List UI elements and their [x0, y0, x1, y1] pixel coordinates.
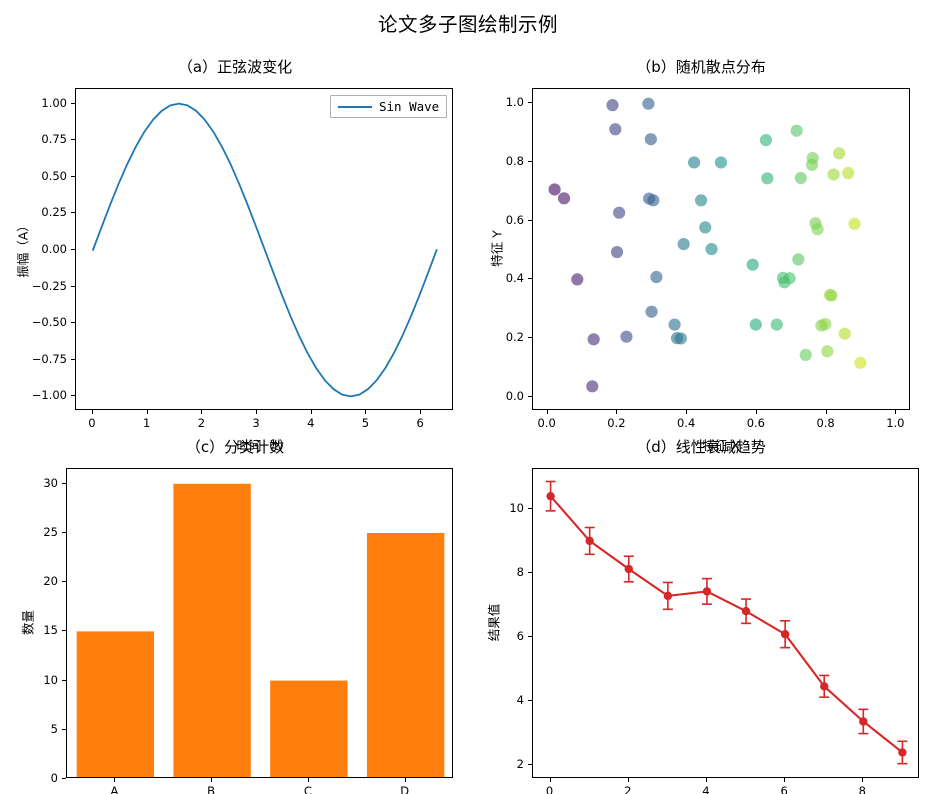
data-point-marker [664, 592, 672, 600]
scatter-point [609, 123, 621, 135]
y-tickmark [62, 778, 66, 779]
x-tick-label: 0.0 [537, 416, 555, 430]
figure-suptitle: 论文多子图绘制示例 [0, 8, 936, 37]
y-tick-label: 0 [0, 771, 58, 785]
scatter-point [833, 147, 845, 159]
scatter-point [800, 349, 812, 361]
bar [173, 484, 250, 778]
data-point-marker [703, 587, 711, 595]
y-tickmark [528, 396, 532, 397]
bar [270, 681, 347, 778]
x-tick-label: 8 [859, 784, 866, 794]
data-point-marker [742, 607, 750, 615]
subplot-d-axes [532, 468, 919, 778]
subplot-b-axes [532, 88, 910, 410]
scatter-point [549, 183, 561, 195]
scatter-point [606, 99, 618, 111]
y-tick-label: 0.00 [0, 242, 67, 256]
x-tickmark [628, 778, 629, 782]
y-tick-label: −0.50 [0, 315, 67, 329]
y-tick-label: 15 [0, 623, 58, 637]
subplot-a-axes [75, 88, 453, 410]
y-tickmark [528, 572, 532, 573]
y-tickmark [62, 729, 66, 730]
y-tickmark [62, 630, 66, 631]
x-tick-label: 0.8 [816, 416, 834, 430]
y-tick-label: 20 [0, 574, 58, 588]
scatter-point [588, 333, 600, 345]
subplot-b-title: （b）随机散点分布 [466, 56, 936, 77]
y-tick-label: 10 [0, 673, 58, 687]
data-point-marker [898, 748, 906, 756]
x-tickmark [308, 778, 309, 782]
scatter-point [642, 98, 654, 110]
x-tickmark [756, 410, 757, 414]
y-tick-label: 30 [0, 476, 58, 490]
x-tickmark [862, 778, 863, 782]
scatter-point [848, 218, 860, 230]
scatter-point [675, 332, 687, 344]
x-tick-label: 0.6 [747, 416, 765, 430]
x-tick-label: B [207, 784, 215, 794]
scatter-point [792, 253, 804, 265]
data-point-marker [820, 682, 828, 690]
y-tick-label: 1.00 [0, 96, 67, 110]
y-tick-label: 5 [0, 722, 58, 736]
y-tickmark [528, 161, 532, 162]
x-tickmark [147, 410, 148, 414]
y-tickmark [71, 103, 75, 104]
scatter-point [825, 289, 837, 301]
scatter-point [819, 318, 831, 330]
y-tick-label: 2 [454, 757, 524, 771]
scatter-point [678, 238, 690, 250]
y-tickmark [62, 581, 66, 582]
scatter-point [715, 156, 727, 168]
x-tickmark [92, 410, 93, 414]
x-tick-label: 0 [546, 784, 553, 794]
subplot-c-axes [66, 468, 453, 778]
y-tick-label: 6 [454, 629, 524, 643]
scatter-point [611, 246, 623, 258]
scatter-point [645, 306, 657, 318]
data-point-marker [859, 717, 867, 725]
y-tick-label: 25 [0, 525, 58, 539]
y-tickmark [528, 337, 532, 338]
x-tickmark [550, 778, 551, 782]
y-tickmark [62, 483, 66, 484]
scatter-point [620, 331, 632, 343]
y-tickmark [528, 102, 532, 103]
data-point-marker [546, 492, 554, 500]
y-tickmark [528, 278, 532, 279]
x-tick-label: 2 [198, 416, 205, 430]
data-point-marker [585, 537, 593, 545]
x-tick-label: 0.2 [607, 416, 625, 430]
y-tick-label: −1.00 [0, 388, 67, 402]
scatter-point [650, 271, 662, 283]
x-tickmark [706, 778, 707, 782]
y-tickmark [71, 395, 75, 396]
x-tick-label: 6 [780, 784, 787, 794]
scatter-point [771, 319, 783, 331]
y-tickmark [62, 532, 66, 533]
y-tickmark [71, 249, 75, 250]
scatter-point [699, 221, 711, 233]
x-tickmark [311, 410, 312, 414]
y-tick-label: 0.2 [454, 330, 524, 344]
subplot-a: （a）正弦波变化 时间（t） 振幅（A） 0123456−1.00−0.75−0… [0, 50, 470, 420]
subplot-d-ylabel: 结果值 [484, 571, 503, 675]
y-tick-label: 0.6 [454, 213, 524, 227]
x-tick-label: 0 [88, 416, 95, 430]
y-tickmark [528, 636, 532, 637]
scatter-point [705, 243, 717, 255]
y-tickmark [71, 322, 75, 323]
y-tick-label: 4 [454, 693, 524, 707]
y-tick-label: 0.50 [0, 169, 67, 183]
x-tick-label: D [400, 784, 409, 794]
scatter-point [571, 273, 583, 285]
sine-wave-line [93, 104, 437, 397]
y-tick-label: 0.4 [454, 271, 524, 285]
x-tickmark [826, 410, 827, 414]
figure-canvas: 论文多子图绘制示例 （a）正弦波变化 时间（t） 振幅（A） 0123456−1… [0, 0, 936, 794]
errorbar-series [546, 481, 908, 763]
y-tickmark [71, 286, 75, 287]
y-tick-label: 1.0 [454, 95, 524, 109]
x-tick-label: 1.0 [886, 416, 904, 430]
y-tickmark [62, 680, 66, 681]
x-tickmark [547, 410, 548, 414]
data-point-marker [781, 630, 789, 638]
x-tick-label: A [110, 784, 118, 794]
scatter-point [613, 207, 625, 219]
scatter-point [827, 168, 839, 180]
subplot-a-legend[interactable]: Sin Wave [330, 95, 447, 118]
legend-label-sin-wave: Sin Wave [379, 99, 439, 114]
subplot-a-title: （a）正弦波变化 [0, 56, 470, 77]
subplot-c: （c）分类计数 类别 数量 ABCD051015202530 [0, 430, 470, 794]
scatter-point [668, 319, 680, 331]
x-tickmark [365, 410, 366, 414]
y-tickmark [71, 176, 75, 177]
x-tick-label: 6 [417, 416, 424, 430]
scatter-point [750, 319, 762, 331]
y-tickmark [71, 139, 75, 140]
scatter-point [695, 194, 707, 206]
y-tick-label: −0.25 [0, 279, 67, 293]
y-tickmark [528, 220, 532, 221]
y-tickmark [71, 359, 75, 360]
scatter-point [795, 172, 807, 184]
scatter-point [760, 134, 772, 146]
scatter-point [854, 357, 866, 369]
x-tick-label: 2 [624, 784, 631, 794]
x-tickmark [201, 410, 202, 414]
x-tickmark [256, 410, 257, 414]
scatter-point [558, 192, 570, 204]
legend-line-swatch [338, 106, 372, 108]
x-tick-label: 3 [252, 416, 259, 430]
scatter-point [839, 328, 851, 340]
x-tickmark [784, 778, 785, 782]
scatter-point [842, 167, 854, 179]
scatter-point [784, 272, 796, 284]
scatter-point [688, 156, 700, 168]
subplot-d-title: （d）线性衰减趋势 [466, 436, 936, 457]
x-tickmark [616, 410, 617, 414]
scatter-point [645, 133, 657, 145]
y-tick-label: 0.8 [454, 154, 524, 168]
scatter-point [811, 223, 823, 235]
y-tick-label: 0.25 [0, 205, 67, 219]
x-tick-label: 0.4 [677, 416, 695, 430]
x-tickmark [420, 410, 421, 414]
subplot-c-title: （c）分类计数 [0, 436, 470, 457]
x-tickmark [895, 410, 896, 414]
x-tick-label: 5 [362, 416, 369, 430]
x-tickmark [211, 778, 212, 782]
y-tick-label: 10 [454, 501, 524, 515]
x-tickmark [405, 778, 406, 782]
y-tickmark [528, 700, 532, 701]
subplot-d: （d）线性衰减趋势 迭代次数 结果值 02468246810 [466, 430, 936, 794]
x-tick-label: C [304, 784, 312, 794]
x-tick-label: 4 [702, 784, 709, 794]
x-tick-label: 1 [143, 416, 150, 430]
scatter-point [806, 159, 818, 171]
y-tickmark [71, 212, 75, 213]
y-tick-label: 0.75 [0, 132, 67, 146]
bar [77, 631, 154, 778]
scatter-point [586, 380, 598, 392]
scatter-point [821, 345, 833, 357]
y-tickmark [528, 508, 532, 509]
scatter-point [647, 194, 659, 206]
x-tick-label: 4 [307, 416, 314, 430]
y-tick-label: −0.75 [0, 352, 67, 366]
scatter-point [747, 259, 759, 271]
data-point-marker [625, 565, 633, 573]
scatter-point [761, 172, 773, 184]
y-tick-label: 0.0 [454, 389, 524, 403]
y-tick-label: 8 [454, 565, 524, 579]
x-tickmark [114, 778, 115, 782]
x-tickmark [686, 410, 687, 414]
subplot-b: （b）随机散点分布 特征 X 特征 Y 0.00.20.40.60.81.00.… [466, 50, 936, 420]
scatter-point [791, 125, 803, 137]
y-tickmark [528, 764, 532, 765]
bar [367, 533, 444, 778]
